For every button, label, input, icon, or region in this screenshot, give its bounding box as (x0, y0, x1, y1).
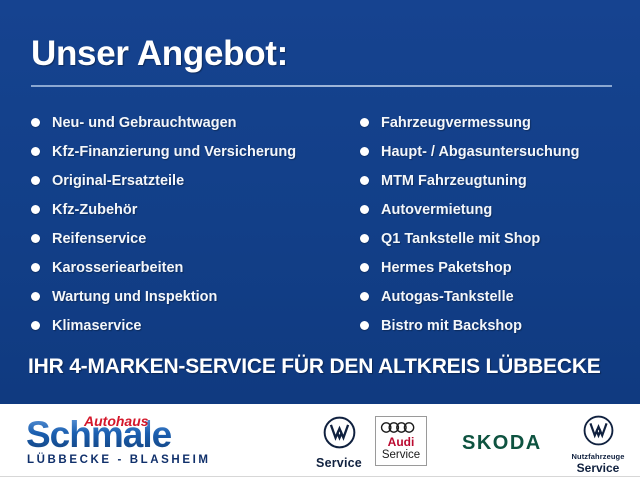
list-item: Karosseriearbeiten (31, 253, 344, 282)
bullet-dot-icon (360, 234, 369, 243)
list-item-label: MTM Fahrzeugtuning (381, 173, 527, 189)
list-item: Q1 Tankstelle mit Shop (360, 224, 640, 253)
bullet-dot-icon (31, 292, 40, 301)
list-item: Neu- und Gebrauchtwagen (31, 108, 344, 137)
bullet-dot-icon (31, 147, 40, 156)
vw-nutzfahrzeuge-label: Nutzfahrzeuge (560, 452, 636, 461)
vw-nutzfahrzeuge-service-label: Service (560, 461, 636, 475)
bullet-dot-icon (360, 176, 369, 185)
vw-nutzfahrzeuge-logo-icon (583, 415, 614, 446)
list-item: Autovermietung (360, 195, 640, 224)
list-item: MTM Fahrzeugtuning (360, 166, 640, 195)
list-item: Bistro mit Backshop (360, 311, 640, 340)
title-underline-divider (31, 85, 612, 87)
bullet-dot-icon (31, 321, 40, 330)
list-item-label: Haupt- / Abgasuntersuchung (381, 144, 579, 160)
list-item-label: Bistro mit Backshop (381, 318, 522, 334)
bullet-dot-icon (31, 234, 40, 243)
bullet-dot-icon (31, 118, 40, 127)
blue-content-panel: Unser Angebot: Neu- und Gebrauchtwagen K… (0, 0, 640, 404)
list-item-label: Neu- und Gebrauchtwagen (52, 115, 237, 131)
offers-columns: Neu- und Gebrauchtwagen Kfz-Finanzierung… (0, 108, 640, 340)
list-item: Wartung und Inspektion (31, 282, 344, 311)
audi-rings-icon (379, 422, 423, 433)
list-item-label: Klimaservice (52, 318, 141, 334)
list-item: Fahrzeugvermessung (360, 108, 640, 137)
bullet-dot-icon (31, 263, 40, 272)
list-item: Hermes Paketshop (360, 253, 640, 282)
bullet-dot-icon (31, 205, 40, 214)
audi-service-logo: Audi Service (375, 416, 427, 466)
list-item-label: Kfz-Zubehör (52, 202, 137, 218)
list-item-label: Wartung und Inspektion (52, 289, 217, 305)
audi-service-label: Service (376, 449, 426, 462)
offer-banner-page: Unser Angebot: Neu- und Gebrauchtwagen K… (0, 0, 640, 480)
list-item-label: Original-Ersatzteile (52, 173, 184, 189)
list-item: Klimaservice (31, 311, 344, 340)
bullet-dot-icon (360, 263, 369, 272)
list-item: Original-Ersatzteile (31, 166, 344, 195)
footer-divider (0, 476, 640, 477)
list-item: Kfz-Finanzierung und Versicherung (31, 137, 344, 166)
dealer-prefix-text: Autohaus (84, 413, 149, 429)
list-item-label: Fahrzeugvermessung (381, 115, 531, 131)
list-item-label: Reifenservice (52, 231, 146, 247)
list-item-label: Autovermietung (381, 202, 492, 218)
bullet-dot-icon (360, 147, 369, 156)
bullet-dot-icon (360, 292, 369, 301)
vw-service-label: Service (310, 456, 368, 470)
list-item-label: Hermes Paketshop (381, 260, 512, 276)
list-item-label: Q1 Tankstelle mit Shop (381, 231, 540, 247)
bullet-dot-icon (360, 321, 369, 330)
offers-column-right: Fahrzeugvermessung Haupt- / Abgasuntersu… (344, 108, 640, 340)
tagline-text: IHR 4-MARKEN-SERVICE FÜR DEN ALTKREIS LÜ… (28, 355, 601, 379)
list-item-label: Karosseriearbeiten (52, 260, 183, 276)
list-item: Haupt- / Abgasuntersuchung (360, 137, 640, 166)
vw-service-logo: Service (310, 416, 368, 470)
list-item: Reifenservice (31, 224, 344, 253)
dealer-locations-text: LÜBBECKE - BLASHEIM (27, 454, 211, 466)
bullet-dot-icon (360, 205, 369, 214)
list-item-label: Autogas-Tankstelle (381, 289, 514, 305)
list-item: Autogas-Tankstelle (360, 282, 640, 311)
vw-nutzfahrzeuge-service-logo: Nutzfahrzeuge Service (560, 415, 636, 475)
page-title: Unser Angebot: (31, 34, 288, 74)
offers-column-left: Neu- und Gebrauchtwagen Kfz-Finanzierung… (0, 108, 344, 340)
autohaus-schmale-logo: Schmale Autohaus LÜBBECKE - BLASHEIM (26, 414, 216, 470)
bullet-dot-icon (360, 118, 369, 127)
vw-logo-icon (323, 416, 356, 449)
audi-brand-label: Audi (376, 436, 426, 449)
list-item: Kfz-Zubehör (31, 195, 344, 224)
skoda-wordmark-icon: SKODA (462, 432, 542, 455)
bullet-dot-icon (31, 176, 40, 185)
list-item-label: Kfz-Finanzierung und Versicherung (52, 144, 296, 160)
